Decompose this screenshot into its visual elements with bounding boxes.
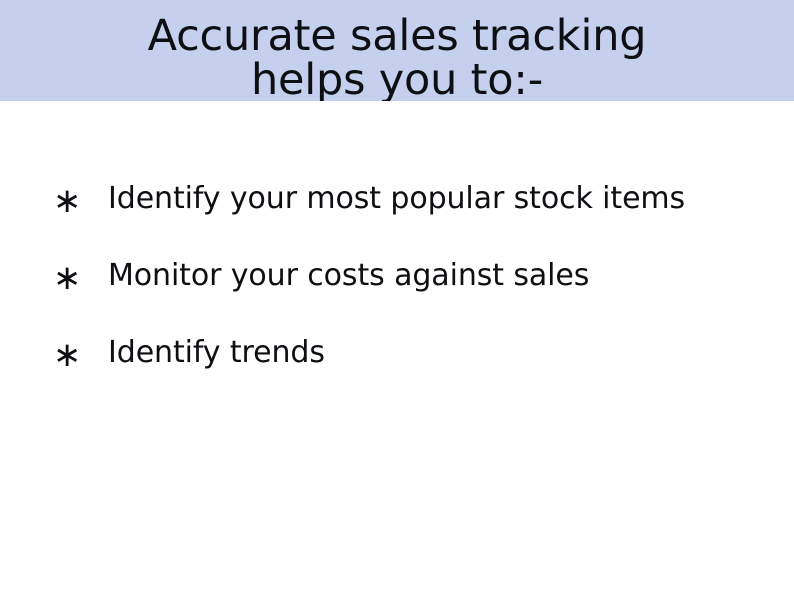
- list-item: ∗ Identify your most popular stock items: [0, 172, 794, 249]
- asterisk-bullet-icon: ∗: [53, 261, 83, 295]
- slide-title-line-1: Accurate sales tracking: [0, 14, 794, 58]
- asterisk-bullet-icon: ∗: [53, 184, 83, 218]
- slide-title-line-2: helps you to:-: [0, 58, 794, 101]
- bullet-item-label: Identify trends: [108, 336, 325, 370]
- slide-title-band: Accurate sales tracking helps you to:-: [0, 0, 794, 101]
- slide-title: Accurate sales tracking helps you to:-: [0, 14, 794, 101]
- bullet-item-label: Monitor your costs against sales: [108, 259, 589, 293]
- list-item: ∗ Identify trends: [0, 326, 794, 403]
- bullet-item-label: Identify your most popular stock items: [108, 182, 685, 216]
- list-item: ∗ Monitor your costs against sales: [0, 249, 794, 326]
- asterisk-bullet-icon: ∗: [53, 338, 83, 372]
- presentation-slide: Accurate sales tracking helps you to:- ∗…: [0, 0, 794, 596]
- bullet-list: ∗ Identify your most popular stock items…: [0, 172, 794, 403]
